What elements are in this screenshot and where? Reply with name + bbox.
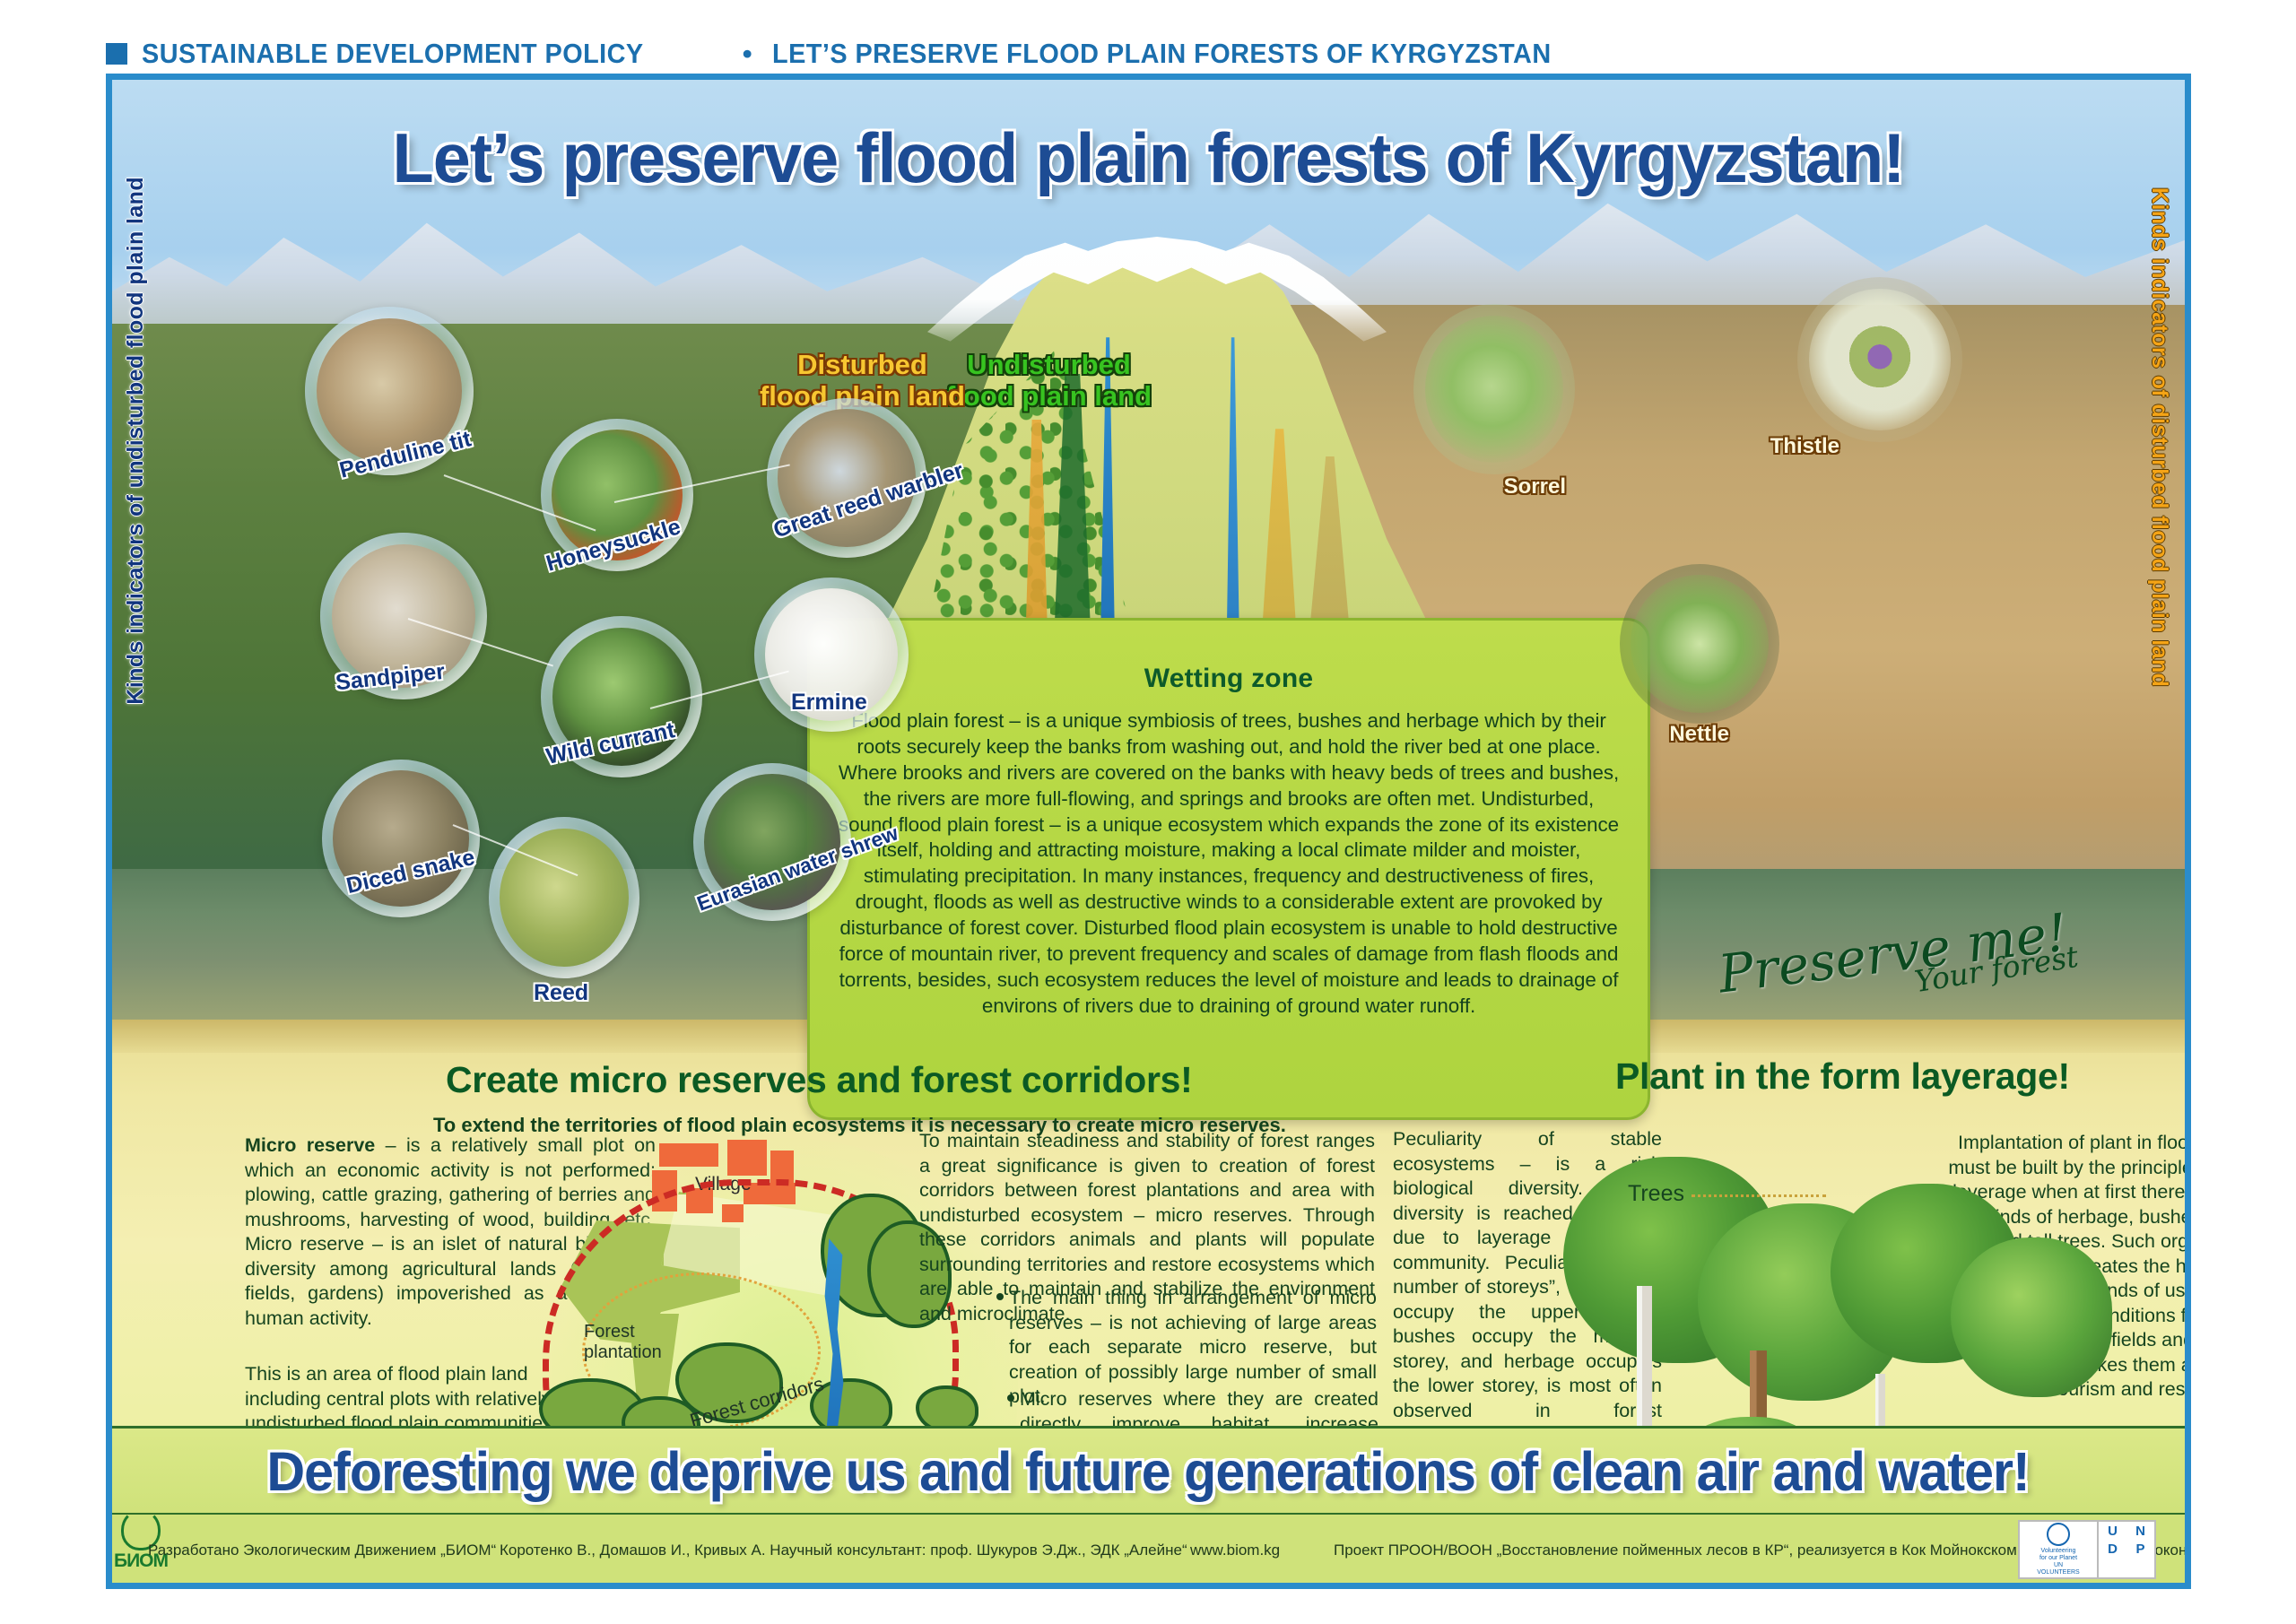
undp-letter-d: D: [2099, 1541, 2126, 1559]
undp-unv-logo: Volunteering for our Planet UN VOLUNTEER…: [2018, 1520, 2156, 1579]
unv-line-1: Volunteering: [2041, 1548, 2076, 1555]
species-bubble-thistle[interactable]: [1797, 277, 1962, 442]
side-label-disturbed: Kinds indicators of disturbed flood plai…: [2146, 187, 2172, 687]
undp-letters-block: U N D P: [2099, 1522, 2154, 1577]
species-label-reed: Reed: [534, 980, 588, 1006]
side-label-undisturbed: Kinds indicators of undisturbed flood pl…: [123, 177, 149, 705]
top-header-bar: SUSTAINABLE DEVELOPMENT POLICY • LET’S P…: [0, 0, 2296, 77]
bottom-slogan-banner: Deforesting we deprive us and future gen…: [112, 1426, 2185, 1515]
globe-icon: [2047, 1523, 2070, 1546]
bullet-dot-icon-2: [1007, 1394, 1014, 1402]
village-block-2: [727, 1140, 767, 1176]
nettle-photo: [1631, 575, 1768, 712]
unv-line-3: UN: [2054, 1562, 2063, 1569]
policy-label: SUSTAINABLE DEVELOPMENT POLICY: [142, 38, 644, 70]
unv-line-2: for our Planet: [2039, 1555, 2077, 1562]
undp-letter-u: U: [2099, 1522, 2126, 1541]
species-bubble-sorrel[interactable]: [1413, 304, 1575, 474]
species-bubble-reed[interactable]: [489, 817, 639, 978]
thistle-photo: [1809, 289, 1951, 430]
map-label-forest-plantation: Forest plantation: [584, 1322, 662, 1363]
dotted-leader-trees: [1692, 1194, 1826, 1197]
species-label-ermine: Ermine: [791, 690, 867, 716]
poster-frame: Kinds indicators of undisturbed flood pl…: [106, 74, 2191, 1589]
tree-canopy-4: [1951, 1238, 2112, 1397]
species-label-sorrel: Sorrel: [1504, 474, 1566, 499]
slogan-text: Deforesting we deprive us and future gen…: [267, 1440, 2030, 1503]
poster-subject-label: LET’S PRESERVE FLOOD PLAIN FORESTS OF KY…: [772, 38, 1552, 70]
blue-square-bullet-icon: [106, 43, 127, 65]
layer-label-trees: Trees: [1628, 1181, 1826, 1207]
layer-label-trees-text: Trees: [1628, 1181, 1684, 1206]
footer-credits-bar: БИОМ Разработано Экологическим Движением…: [112, 1513, 2185, 1583]
heading-plant-in-form-layerage: Plant in the form layerage!: [1615, 1055, 2070, 1098]
unv-logo-block: Volunteering for our Planet UN VOLUNTEER…: [2020, 1522, 2099, 1577]
credit-developer: Разработано Экологическим Движением „БИО…: [148, 1541, 496, 1559]
bullet-dot-icon-1: [996, 1293, 1004, 1300]
undp-letter-n: N: [2126, 1522, 2154, 1541]
reed-photo: [500, 829, 630, 968]
dot-separator-icon: •: [743, 38, 752, 70]
species-label-nettle: Nettle: [1669, 722, 1729, 747]
wetting-zone-title: Wetting zone: [837, 664, 1621, 694]
website-link[interactable]: www.biom.kg: [1190, 1541, 1280, 1559]
term-micro-reserve: Micro reserve: [245, 1134, 375, 1156]
wetting-zone-callout: Wetting zone Flood plain forest – is a u…: [807, 618, 1650, 1120]
heading-create-micro-reserves: Create micro reserves and forest corrido…: [446, 1059, 1193, 1101]
page-title: Let’s preserve flood plain forests of Ky…: [143, 117, 2154, 199]
sorrel-photo: [1425, 316, 1564, 462]
wetting-zone-body: Flood plain forest – is a unique symbios…: [837, 708, 1621, 1020]
label-undisturbed-land: Undisturbed flood plain land: [946, 349, 1152, 413]
species-bubble-diced-snake[interactable]: [322, 760, 480, 917]
village-block-1: [659, 1143, 718, 1167]
species-label-thistle: Thistle: [1770, 434, 1839, 459]
species-bubble-nettle[interactable]: [1620, 564, 1779, 724]
undp-letter-p: P: [2126, 1541, 2154, 1559]
credit-authors: Коротенко В., Домашов И., Кривых А. Науч…: [500, 1541, 1187, 1559]
unv-line-4: VOLUNTEERS: [2037, 1569, 2079, 1576]
